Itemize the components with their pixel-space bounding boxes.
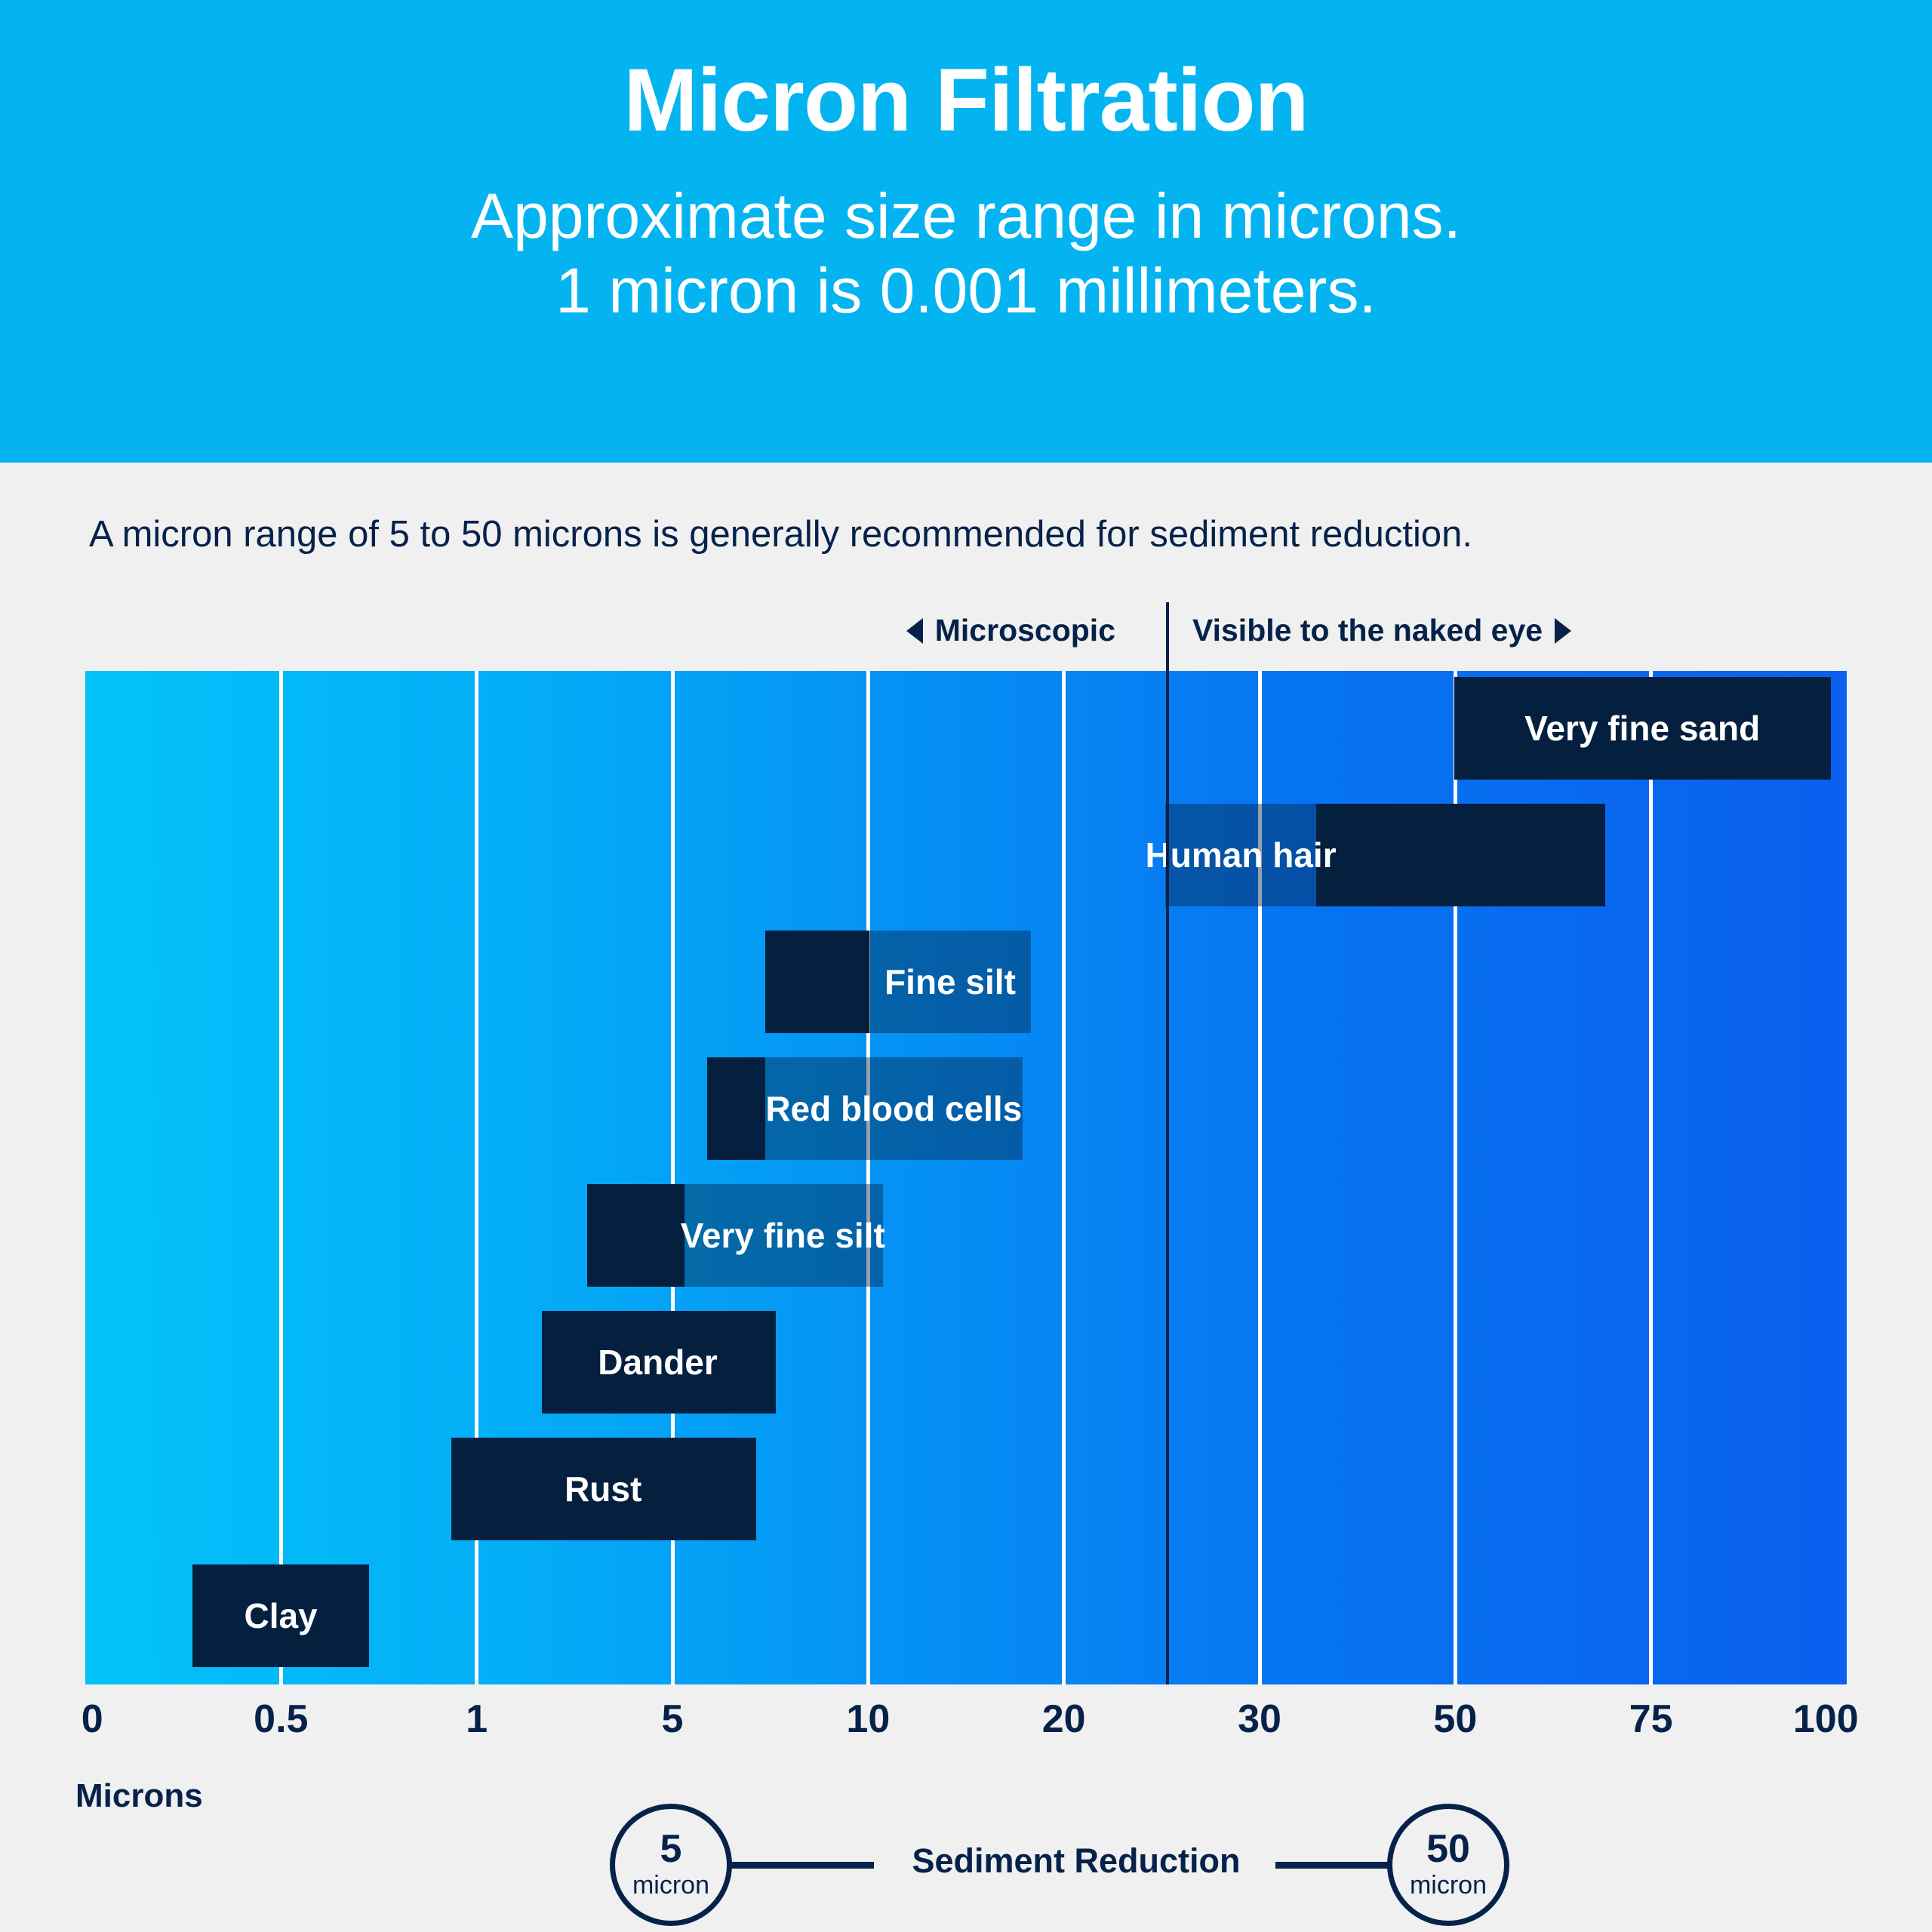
arrow-right-icon bbox=[1555, 618, 1571, 644]
bar-segment bbox=[192, 1564, 368, 1667]
axis-tick-label: 20 bbox=[1042, 1697, 1086, 1742]
bar-segment bbox=[1316, 804, 1605, 906]
header-banner: Micron Filtration Approximate size range… bbox=[0, 0, 1932, 463]
gridline bbox=[279, 671, 283, 1684]
axis-tick-label: 1 bbox=[466, 1697, 488, 1742]
arrow-left-icon bbox=[906, 618, 923, 644]
bar-label-backdrop bbox=[685, 1184, 884, 1287]
subtitle-line-2: 1 micron is 0.001 millimeters. bbox=[0, 254, 1932, 328]
bar-segment bbox=[542, 1311, 776, 1414]
infographic-page: Micron Filtration Approximate size range… bbox=[0, 0, 1932, 1932]
gridline bbox=[866, 671, 870, 1684]
bar-label-backdrop bbox=[869, 931, 1032, 1033]
axis-tick-label: 30 bbox=[1238, 1697, 1281, 1742]
axis-tick-label: 75 bbox=[1629, 1697, 1673, 1742]
axis-tick-label: 100 bbox=[1793, 1697, 1859, 1742]
gridline bbox=[1062, 671, 1066, 1684]
recommendation-note: A micron range of 5 to 50 microns is gen… bbox=[89, 513, 1472, 555]
page-title: Micron Filtration bbox=[0, 54, 1932, 147]
page-subtitle: Approximate size range in microns. 1 mic… bbox=[0, 179, 1932, 328]
micron-badge-5-unit: micron bbox=[632, 1870, 709, 1901]
sediment-reduction-label: Sediment Reduction bbox=[889, 1841, 1263, 1881]
axis-tick-label: 5 bbox=[662, 1697, 684, 1742]
scale-callouts: Microscopic Visible to the naked eye bbox=[0, 613, 1932, 660]
micron-badge-5: 5 micron bbox=[610, 1804, 732, 1926]
microscopic-label: Microscopic bbox=[935, 613, 1115, 648]
micron-badge-50-unit: micron bbox=[1410, 1870, 1487, 1901]
bar-segment bbox=[1454, 677, 1831, 780]
visible-callout: Visible to the naked eye bbox=[1192, 613, 1571, 648]
micron-size-chart: Very fine sandHuman hairFine siltRed blo… bbox=[85, 671, 1847, 1684]
visibility-divider-line bbox=[1166, 602, 1169, 1684]
gridline bbox=[1649, 671, 1653, 1684]
axis-tick-label: 0.5 bbox=[254, 1697, 308, 1742]
micron-badge-5-number: 5 bbox=[660, 1829, 682, 1869]
microscopic-callout: Microscopic bbox=[906, 613, 1115, 648]
bar-label-backdrop bbox=[1165, 804, 1317, 906]
bar-segment bbox=[451, 1438, 756, 1540]
axis-tick-label: 50 bbox=[1433, 1697, 1477, 1742]
x-axis-ticks: 00.5151020305075100 bbox=[0, 1697, 1932, 1749]
micron-badge-50: 50 micron bbox=[1387, 1804, 1509, 1926]
bar-segment bbox=[707, 1057, 765, 1160]
axis-tick-label: 10 bbox=[846, 1697, 890, 1742]
bar-segment bbox=[765, 931, 869, 1033]
subtitle-line-1: Approximate size range in microns. bbox=[0, 179, 1932, 254]
visible-label: Visible to the naked eye bbox=[1192, 613, 1543, 648]
micron-badge-50-number: 50 bbox=[1426, 1829, 1470, 1869]
bar-label-backdrop bbox=[765, 1057, 1023, 1160]
bar-segment bbox=[587, 1184, 684, 1287]
axis-tick-label: 0 bbox=[82, 1697, 103, 1742]
connector-line-left bbox=[731, 1862, 874, 1869]
sediment-reduction-footer: 5 micron 50 micron Sediment Reduction bbox=[0, 1804, 1932, 1932]
